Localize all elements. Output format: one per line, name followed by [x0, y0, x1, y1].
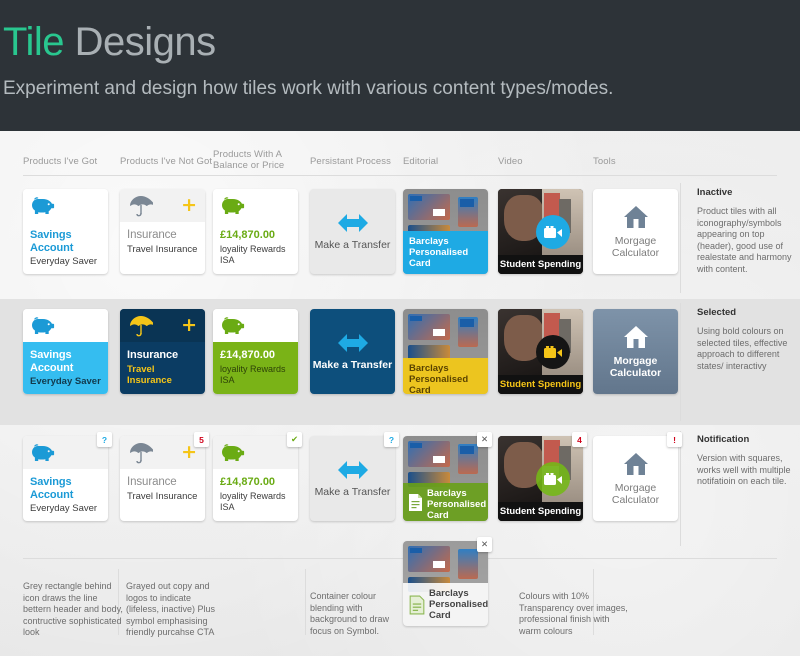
page-subtitle: Experiment and design how tiles work wit…: [3, 78, 800, 100]
plus-icon: +: [181, 445, 197, 460]
tile-isa-inactive[interactable]: £14,870.00 loyality Rewards ISA: [213, 189, 298, 274]
piggy-bank-icon: [221, 316, 247, 336]
tile-savings-inactive[interactable]: Savings Account Everyday Saver: [23, 189, 108, 274]
annotation-body: Using bold colours on selected tiles, ef…: [697, 326, 800, 372]
status-badge[interactable]: 5: [194, 432, 209, 447]
note-4: Colours with 10% Transparency over image…: [519, 591, 634, 637]
status-badge[interactable]: ?: [97, 432, 112, 447]
column-header-products-ive-not-got: Products I've Not Got: [120, 156, 220, 167]
tile-label: Morgage Calculator: [593, 355, 678, 379]
tile-title: Insurance: [127, 229, 198, 242]
page-title-accent: Tile: [3, 20, 64, 64]
video-caption: Student Spending: [498, 255, 583, 274]
video-camera-icon: [544, 346, 563, 359]
header-divider: [23, 175, 777, 176]
umbrella-icon: [129, 442, 153, 464]
note-2: Grayed out copy and logos to indicate (l…: [126, 581, 226, 639]
umbrella-icon: [129, 195, 153, 217]
status-badge[interactable]: ✕: [477, 537, 492, 552]
tile-savings-notification[interactable]: Savings Account Everyday Saver ?: [23, 436, 108, 521]
transfer-arrows-icon: [336, 333, 370, 353]
column-header-persistant-process: Persistant Process: [310, 156, 405, 167]
tile-title: Insurance: [127, 349, 198, 362]
annotation-divider-1: [680, 183, 681, 293]
tile-tools-notification[interactable]: Morgage Calculator !: [593, 436, 678, 521]
status-badge[interactable]: !: [667, 432, 682, 447]
annotation-title: Notification: [697, 434, 800, 446]
tile-subtitle: loyality Rewards ISA: [220, 244, 291, 265]
tile-tools-selected[interactable]: Morgage Calculator: [593, 309, 678, 394]
column-header-video: Video: [498, 156, 568, 167]
tile-transfer-notification[interactable]: Make a Transfer ?: [310, 436, 395, 521]
tile-amount: £14,870.00: [220, 476, 291, 489]
plus-icon: +: [181, 318, 197, 333]
house-icon: [623, 325, 649, 349]
piggy-bank-icon: [221, 196, 247, 216]
video-camera-icon: [544, 473, 563, 486]
tile-editorial-inactive[interactable]: Barclays Personalised Card: [403, 189, 488, 274]
tile-subtitle: loyality Rewards ISA: [220, 491, 291, 512]
tile-subtitle: Travel Insurance: [127, 244, 198, 255]
note-3: Container colour blending with backgroun…: [310, 591, 410, 637]
tile-subtitle: Travel Insurance: [127, 491, 198, 502]
video-caption: Student Spending: [498, 502, 583, 521]
tile-video-selected[interactable]: Student Spending: [498, 309, 583, 394]
status-badge[interactable]: ✔: [287, 432, 302, 447]
tile-title: Insurance: [127, 476, 198, 489]
video-camera-icon: [544, 226, 563, 239]
note-1: Grey rectangle behind icon draws the lin…: [23, 581, 123, 639]
tile-video-notification[interactable]: Student Spending 4: [498, 436, 583, 521]
house-icon: [623, 452, 649, 476]
tile-title: Savings Account: [30, 229, 101, 254]
video-caption: Student Spending: [498, 375, 583, 394]
editorial-banner-label: Barclays Personalised Card: [409, 363, 468, 394]
tile-subtitle: loyality Rewards ISA: [220, 364, 291, 385]
tile-transfer-inactive[interactable]: Make a Transfer: [310, 189, 395, 274]
annotation-title: Inactive: [697, 187, 800, 199]
piggy-bank-icon: [31, 196, 57, 216]
tile-amount: £14,870.00: [220, 229, 291, 242]
editorial-banner: Barclays Personalised Card: [403, 483, 488, 521]
video-play-badge[interactable]: [536, 462, 570, 496]
piggy-bank-icon: [221, 443, 247, 463]
tile-label: Make a Transfer: [313, 359, 392, 371]
page-title-rest: Designs: [64, 20, 216, 64]
column-header-tools: Tools: [593, 156, 663, 167]
editorial-banner-label: Barclays Personalised Card: [409, 236, 468, 269]
column-header-editorial: Editorial: [403, 156, 473, 167]
video-play-badge[interactable]: [536, 215, 570, 249]
tile-editorial-notification[interactable]: Barclays Personalised Card ✕: [403, 436, 488, 521]
note-divider-2: [305, 569, 306, 635]
annotation-title: Selected: [697, 307, 800, 319]
editorial-banner: Barclays Personalised Card: [403, 358, 488, 394]
annotation-inactive: Inactive Product tiles with all iconogra…: [697, 187, 800, 275]
annotation-divider-2: [680, 303, 681, 421]
status-badge[interactable]: ✕: [477, 432, 492, 447]
piggy-bank-icon: [31, 316, 57, 336]
tile-isa-selected[interactable]: £14,870.00 loyality Rewards ISA: [213, 309, 298, 394]
video-play-badge[interactable]: [536, 335, 570, 369]
editorial-banner-label: Barclays Personalised Card: [429, 588, 488, 621]
transfer-arrows-icon: [336, 460, 370, 480]
annotation-body: Product tiles with all iconography/symbo…: [697, 206, 800, 275]
tile-insurance-notification[interactable]: + Insurance Travel Insurance 5: [120, 436, 205, 521]
tile-subtitle: Everyday Saver: [30, 503, 101, 514]
tile-isa-notification[interactable]: £14,870.00 loyality Rewards ISA ✔: [213, 436, 298, 521]
annotation-selected: Selected Using bold colours on selected …: [697, 307, 800, 372]
editorial-banner: Barclays Personalised Card: [403, 583, 488, 626]
tile-subtitle: Travel Insurance: [127, 364, 198, 386]
annotation-divider-3: [680, 431, 681, 546]
tile-tools-inactive[interactable]: Morgage Calculator: [593, 189, 678, 274]
page-header: Tile Designs Experiment and design how t…: [0, 0, 800, 131]
annotation-body: Version with squares, works well with mu…: [697, 453, 800, 488]
piggy-bank-icon: [31, 443, 57, 463]
editorial-banner-label: Barclays Personalised Card: [427, 488, 486, 521]
notes-divider: [23, 558, 777, 559]
editorial-banner: Barclays Personalised Card: [403, 231, 488, 274]
tile-video-inactive[interactable]: Student Spending: [498, 189, 583, 274]
status-badge[interactable]: ?: [384, 432, 399, 447]
tile-subtitle: Everyday Saver: [30, 376, 101, 387]
tile-label: Morgage Calculator: [593, 235, 678, 259]
tile-label: Morgage Calculator: [593, 482, 678, 506]
umbrella-icon: [129, 315, 153, 337]
tile-editorial-selected[interactable]: Barclays Personalised Card: [403, 309, 488, 394]
tile-transfer-selected[interactable]: Make a Transfer: [310, 309, 395, 394]
page-title: Tile Designs: [0, 18, 800, 66]
tile-amount: £14,870.00: [220, 349, 291, 362]
tile-title: Savings Account: [30, 349, 101, 374]
annotation-notification: Notification Version with squares, works…: [697, 434, 800, 488]
column-header-products-with-balance: Products With A Balance or Price: [213, 149, 293, 171]
tile-subtitle: Everyday Saver: [30, 256, 101, 267]
tile-label: Make a Transfer: [315, 239, 391, 251]
tile-editorial-transparent[interactable]: Barclays Personalised Card ✕: [403, 541, 488, 626]
tile-insurance-selected[interactable]: + Insurance Travel Insurance: [120, 309, 205, 394]
tile-savings-selected[interactable]: Savings Account Everyday Saver: [23, 309, 108, 394]
transfer-arrows-icon: [336, 213, 370, 233]
house-icon: [623, 205, 649, 229]
status-badge[interactable]: 4: [572, 432, 587, 447]
tile-insurance-inactive[interactable]: + Insurance Travel Insurance: [120, 189, 205, 274]
document-icon: [408, 493, 423, 512]
tile-board: Products I've Got Products I've Not Got …: [0, 131, 800, 656]
document-icon: [409, 595, 425, 615]
tile-label: Make a Transfer: [315, 486, 391, 498]
plus-icon: +: [181, 198, 197, 213]
tile-title: Savings Account: [30, 476, 101, 501]
column-header-products-ive-got: Products I've Got: [23, 156, 118, 167]
